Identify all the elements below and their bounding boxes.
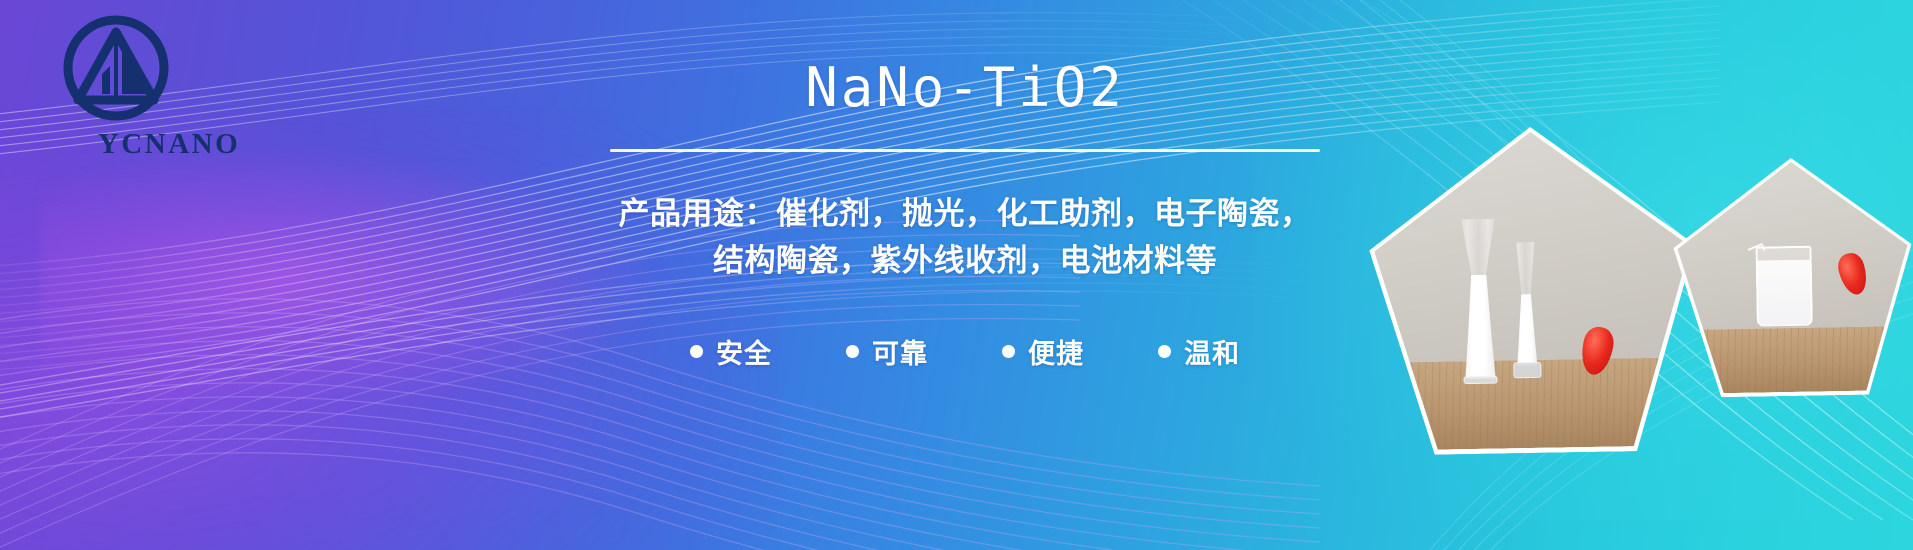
vase-glass-top [1510, 242, 1541, 299]
usage-line-2: 结构陶瓷，紫外线收剂，电池材料等 [470, 237, 1460, 284]
dot-bullet-icon [1002, 345, 1015, 358]
feature-list: 安全 可靠 便捷 温和 [470, 332, 1460, 371]
vase-short [1510, 242, 1542, 379]
feature-item-mild: 温和 [1158, 332, 1240, 371]
feature-label: 可靠 [872, 332, 928, 371]
usage-line-1: 产品用途：催化剂，抛光，化工助剂，电子陶瓷， [470, 190, 1460, 237]
beaker-wall [1755, 246, 1812, 327]
vase-white-body [1511, 294, 1542, 367]
product-title: NaNo-TiO2 [470, 60, 1460, 117]
dot-bullet-icon [1158, 345, 1171, 358]
feature-label: 安全 [716, 332, 772, 371]
vase-white-body [1459, 275, 1501, 380]
product-usage-text: 产品用途：催化剂，抛光，化工助剂，电子陶瓷， 结构陶瓷，紫外线收剂，电池材料等 [470, 190, 1460, 284]
brand-logo-block[interactable]: YCNANO [46, 14, 276, 179]
feature-item-convenient: 便捷 [1002, 332, 1084, 371]
brand-name: YCNANO [62, 128, 276, 161]
banner-content: NaNo-TiO2 产品用途：催化剂，抛光，化工助剂，电子陶瓷， 结构陶瓷，紫外… [470, 60, 1460, 371]
feature-item-reliable: 可靠 [846, 332, 928, 371]
ycnano-triangle-circle-logo [62, 14, 170, 122]
vase-base [1463, 376, 1497, 385]
vase-tall [1458, 219, 1501, 380]
dot-bullet-icon [690, 345, 703, 358]
beaker-with-slurry [1755, 246, 1812, 327]
product-banner: YCNANO NaNo-TiO2 产品用途：催化剂，抛光，化工助剂，电子陶瓷， … [0, 0, 1913, 550]
feature-item-safe: 安全 [690, 332, 772, 371]
dot-bullet-icon [846, 345, 859, 358]
feature-label: 便捷 [1028, 332, 1084, 371]
vase-glass-top [1458, 219, 1499, 280]
vase-base [1513, 362, 1541, 378]
title-divider [610, 149, 1320, 152]
feature-label: 温和 [1184, 332, 1240, 371]
